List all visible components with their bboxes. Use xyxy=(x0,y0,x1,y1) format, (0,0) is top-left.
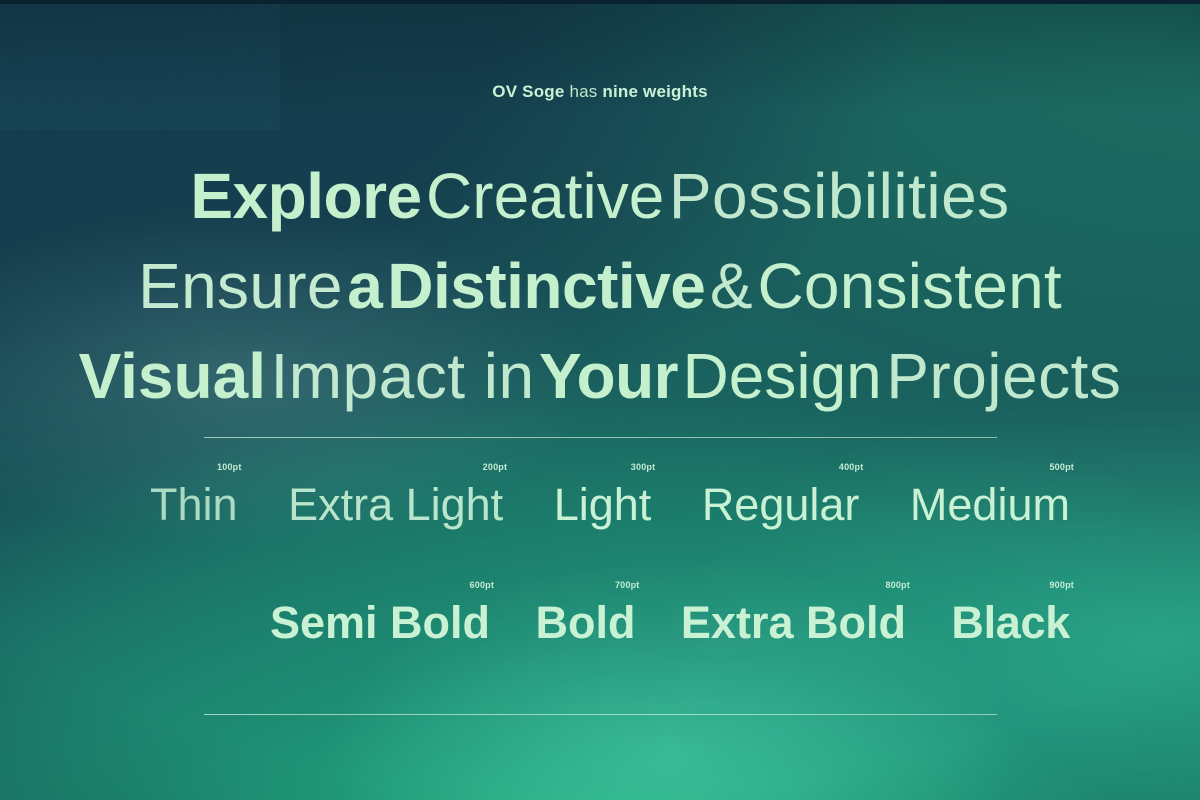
weight-row-bold: Semi Bold600ptBold700ptExtra Bold800ptBl… xyxy=(270,600,1070,645)
headline-word: Consistent xyxy=(757,250,1061,322)
eyebrow-connector: has xyxy=(565,82,603,101)
weight-sample-pt-tag: 900pt xyxy=(1049,581,1074,590)
weight-sample-thin[interactable]: Thin100pt xyxy=(150,482,238,527)
weight-sample-pt-tag: 400pt xyxy=(839,463,864,472)
weight-sample-bold[interactable]: Bold700pt xyxy=(535,600,635,645)
weight-sample-label: Bold xyxy=(535,600,635,645)
weight-sample-black[interactable]: Black900pt xyxy=(951,600,1070,645)
headline-word: Visual xyxy=(79,340,266,412)
weight-sample-extra-light[interactable]: Extra Light200pt xyxy=(288,482,503,527)
weight-sample-pt-tag: 300pt xyxy=(631,463,656,472)
weight-sample-semi-bold[interactable]: Semi Bold600pt xyxy=(270,600,490,645)
headline-word: Explore xyxy=(190,160,421,232)
weight-sample-pt-tag: 200pt xyxy=(483,463,508,472)
headline-word: Impact in xyxy=(270,340,534,412)
divider-top xyxy=(204,437,997,438)
weight-sample-pt-tag: 600pt xyxy=(470,581,495,590)
specimen-eyebrow: OV Soge has nine weights xyxy=(0,82,1200,102)
headline-word: Creative xyxy=(426,160,664,232)
eyebrow-suffix: nine weights xyxy=(602,82,707,101)
weight-sample-pt-tag: 800pt xyxy=(885,581,910,590)
headline-word: Design xyxy=(683,340,882,412)
brand-name: OV Soge xyxy=(492,82,564,101)
headline-word: Your xyxy=(539,340,678,412)
weight-sample-label: Extra Bold xyxy=(681,600,906,645)
weight-sample-label: Semi Bold xyxy=(270,600,490,645)
weight-sample-medium[interactable]: Medium500pt xyxy=(910,482,1070,527)
headline-line-3: Visual Impact in Your Design Projects xyxy=(0,340,1200,430)
headline-line-2: Ensure a Distinctive & Consistent xyxy=(0,250,1200,340)
font-specimen-poster: OV Soge has nine weights Explore Creativ… xyxy=(0,0,1200,800)
weight-sample-label: Thin xyxy=(150,482,238,527)
weight-sample-label: Medium xyxy=(910,482,1070,527)
headline-block: Explore Creative Possibilities Ensure a … xyxy=(0,160,1200,430)
weight-sample-extra-bold[interactable]: Extra Bold800pt xyxy=(681,600,906,645)
weight-row-light: Thin100ptExtra Light200ptLight300ptRegul… xyxy=(150,482,1070,527)
weight-sample-regular[interactable]: Regular400pt xyxy=(702,482,860,527)
headline-word: & xyxy=(710,250,753,322)
headline-word: Distinctive xyxy=(387,250,705,322)
weight-sample-label: Extra Light xyxy=(288,482,503,527)
weight-sample-label: Light xyxy=(554,482,652,527)
weight-sample-label: Black xyxy=(951,600,1070,645)
headline-word: Projects xyxy=(886,340,1121,412)
headline-line-1: Explore Creative Possibilities xyxy=(0,160,1200,250)
weight-sample-pt-tag: 500pt xyxy=(1049,463,1074,472)
headline-word: a xyxy=(347,250,383,322)
divider-bottom xyxy=(204,714,997,715)
weight-sample-pt-tag: 100pt xyxy=(217,463,242,472)
weight-sample-label: Regular xyxy=(702,482,860,527)
weight-sample-light[interactable]: Light300pt xyxy=(554,482,652,527)
headline-word: Ensure xyxy=(138,250,343,322)
weight-sample-pt-tag: 700pt xyxy=(615,581,640,590)
headline-word: Possibilities xyxy=(669,160,1010,232)
